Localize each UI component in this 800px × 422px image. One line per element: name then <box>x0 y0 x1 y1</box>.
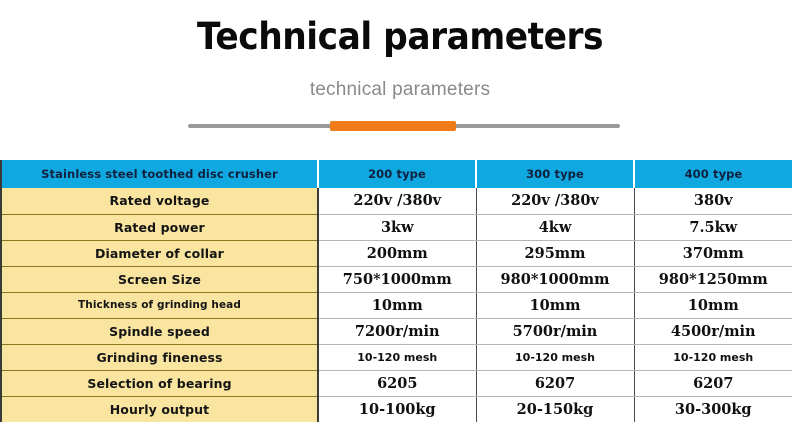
row-value: 750*1000mm <box>318 266 476 292</box>
row-value: 20-150kg <box>476 396 634 422</box>
table-header-row: Stainless steel toothed disc crusher 200… <box>2 160 792 188</box>
column-header-300-type: 300 type <box>476 160 634 188</box>
row-value: 5700r/min <box>476 318 634 344</box>
row-value: 220v /380v <box>318 188 476 214</box>
divider-accent-bar <box>330 121 456 131</box>
row-value: 10mm <box>318 292 476 318</box>
table-row: Screen Size750*1000mm980*1000mm980*1250m… <box>2 266 792 292</box>
row-value: 30-300kg <box>634 396 792 422</box>
row-value: 6205 <box>318 370 476 396</box>
row-label: Rated power <box>2 214 318 240</box>
row-label: Screen Size <box>2 266 318 292</box>
table-row: Grinding fineness10-120 mesh10-120 mesh1… <box>2 344 792 370</box>
row-value: 200mm <box>318 240 476 266</box>
row-value: 10-120 mesh <box>634 344 792 370</box>
row-value: 380v <box>634 188 792 214</box>
row-value: 980*1000mm <box>476 266 634 292</box>
row-value: 220v /380v <box>476 188 634 214</box>
table-row: Thickness of grinding head10mm10mm10mm <box>2 292 792 318</box>
table-row: Hourly output10-100kg20-150kg30-300kg <box>2 396 792 422</box>
row-value: 10-100kg <box>318 396 476 422</box>
row-label: Thickness of grinding head <box>2 292 318 318</box>
row-value: 6207 <box>476 370 634 396</box>
page-subtitle: technical parameters <box>0 57 800 101</box>
row-label: Rated voltage <box>2 188 318 214</box>
row-value: 6207 <box>634 370 792 396</box>
table-row: Rated power3kw4kw7.5kw <box>2 214 792 240</box>
row-label: Diameter of collar <box>2 240 318 266</box>
table-row: Selection of bearing620562076207 <box>2 370 792 396</box>
row-value: 7.5kw <box>634 214 792 240</box>
table-body: Rated voltage220v /380v220v /380v380vRat… <box>2 188 792 422</box>
table-row: Diameter of collar200mm295mm370mm <box>2 240 792 266</box>
row-value: 370mm <box>634 240 792 266</box>
row-value: 10-120 mesh <box>318 344 476 370</box>
row-label: Hourly output <box>2 396 318 422</box>
page-header: Technical parameters technical parameter… <box>0 0 800 135</box>
column-header-200-type: 200 type <box>318 160 476 188</box>
row-value: 10-120 mesh <box>476 344 634 370</box>
row-label: Spindle speed <box>2 318 318 344</box>
column-header-400-type: 400 type <box>634 160 792 188</box>
row-label: Selection of bearing <box>2 370 318 396</box>
row-value: 7200r/min <box>318 318 476 344</box>
row-value: 4500r/min <box>634 318 792 344</box>
table-row: Rated voltage220v /380v220v /380v380v <box>2 188 792 214</box>
technical-parameters-table: Stainless steel toothed disc crusher 200… <box>0 160 792 422</box>
row-value: 10mm <box>634 292 792 318</box>
row-value: 4kw <box>476 214 634 240</box>
table-header: Stainless steel toothed disc crusher 200… <box>2 160 792 188</box>
page-title: Technical parameters <box>28 18 772 57</box>
row-value: 980*1250mm <box>634 266 792 292</box>
table-row: Spindle speed7200r/min5700r/min4500r/min <box>2 318 792 344</box>
row-value: 3kw <box>318 214 476 240</box>
title-divider <box>0 117 800 135</box>
row-label: Grinding fineness <box>2 344 318 370</box>
row-value: 10mm <box>476 292 634 318</box>
row-value: 295mm <box>476 240 634 266</box>
column-header-model: Stainless steel toothed disc crusher <box>2 160 318 188</box>
